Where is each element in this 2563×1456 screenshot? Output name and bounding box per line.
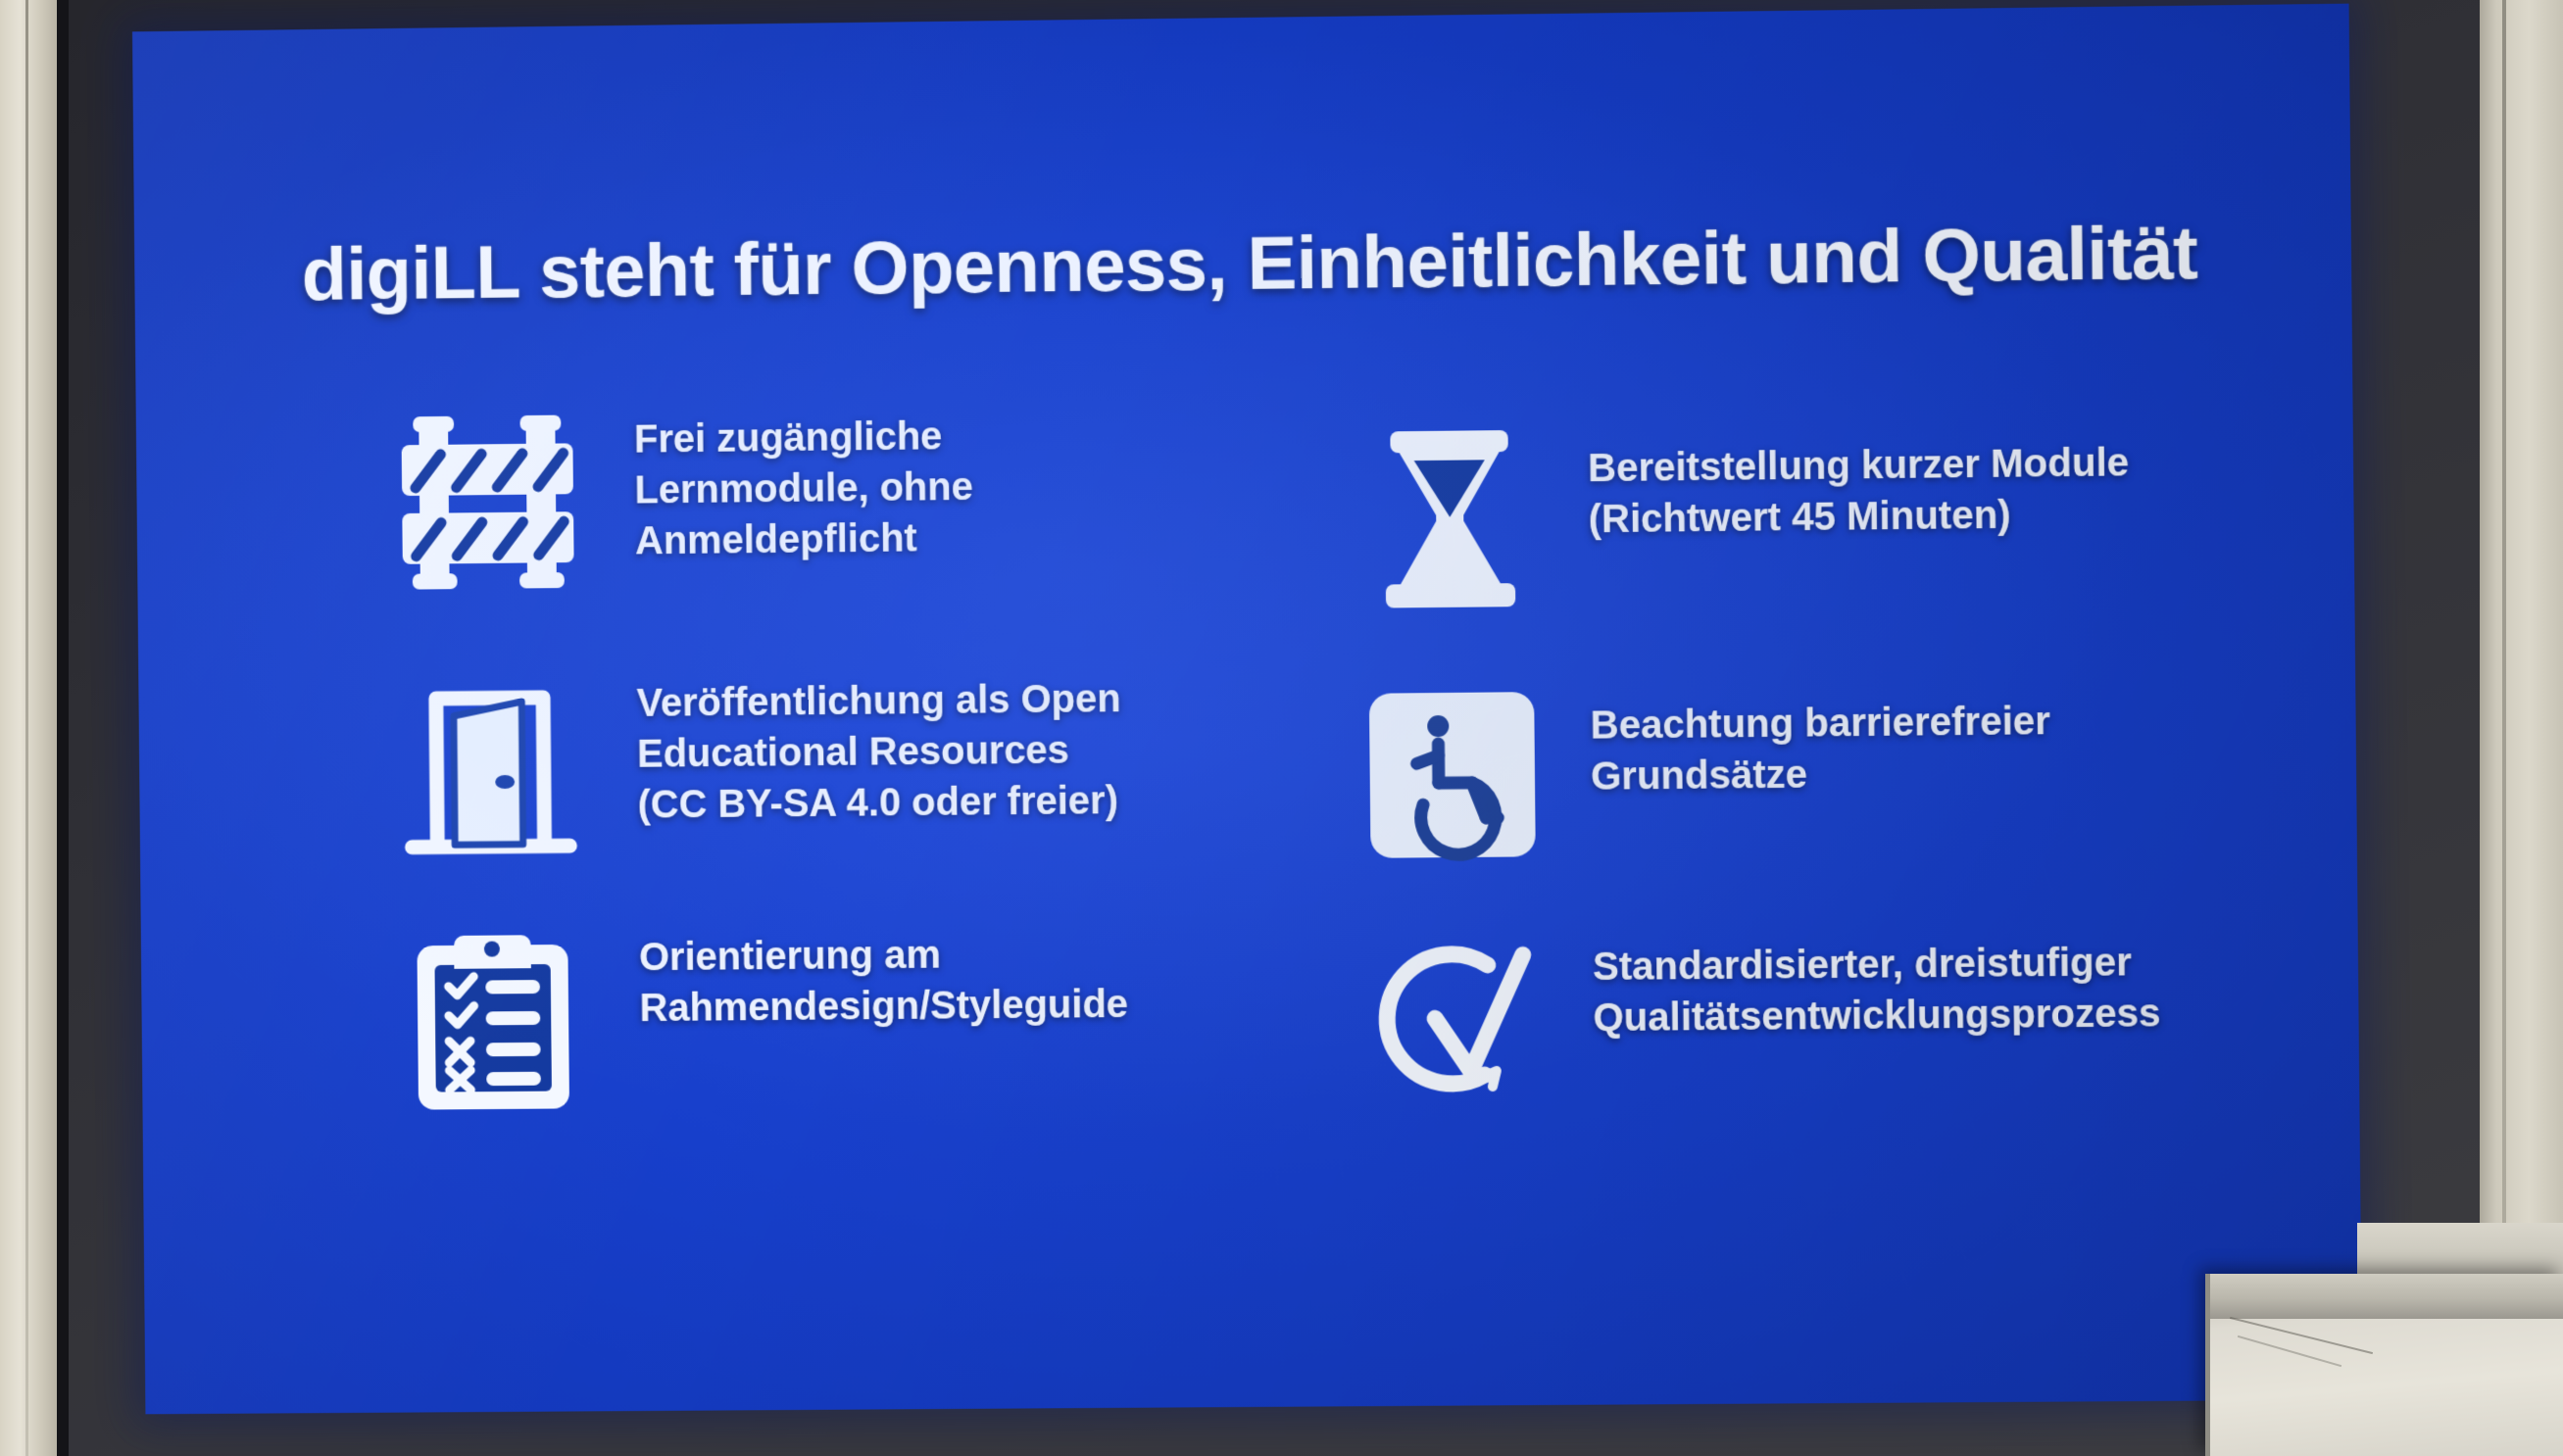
cycle-check-icon xyxy=(1341,922,1568,1110)
bezel-edge-left xyxy=(57,0,69,1456)
flipchart-rail xyxy=(2210,1274,2563,1319)
wheelchair-accessibility-icon xyxy=(1339,681,1566,869)
feature-text-line: Frei zugängliche xyxy=(634,411,973,465)
column-right: Bereitstellung kurzer Module (Richtwert … xyxy=(1267,391,2259,1166)
feature-text-line: (Richtwert 45 Minuten) xyxy=(1588,488,2129,545)
feature-item: Beachtung barrierefreier Grundsätze xyxy=(1270,676,2052,870)
clipboard-checklist-icon xyxy=(380,927,606,1114)
feature-text: Beachtung barrierefreier Grundsätze xyxy=(1590,676,2050,802)
feature-text: Orientierung am Rahmendesign/Styleguide xyxy=(639,922,1128,1034)
feature-text-line: Bereitstellung kurzer Module xyxy=(1588,437,2129,494)
flipchart-paper-fold xyxy=(2230,1317,2373,1354)
feature-text-line: Veröffentlichung als Open xyxy=(636,673,1120,729)
room-background: digiLL steht für Openness, Einheitlichke… xyxy=(0,0,2563,1456)
feature-text-line: Beachtung barrierefreier xyxy=(1590,696,2050,752)
feature-text-line: Qualitätsentwicklungsprozess xyxy=(1593,988,2160,1043)
feature-text-line: Orientierung am xyxy=(639,928,1128,983)
content-grid: Frei zugängliche Lernmodule, ohne Anmeld… xyxy=(281,391,2249,1174)
feature-text: Frei zugängliche Lernmodule, ohne Anmeld… xyxy=(634,405,974,566)
feature-text-line: Anmeldepflicht xyxy=(635,512,974,566)
feature-item: Frei zugängliche Lernmodule, ohne Anmeld… xyxy=(281,405,974,598)
feature-text: Veröffentlichung als Open Educational Re… xyxy=(636,667,1121,830)
presentation-slide: digiLL steht für Openness, Einheitlichke… xyxy=(132,4,2362,1415)
feature-text-line: Educational Resources xyxy=(637,724,1121,780)
hourglass-icon xyxy=(1336,423,1563,612)
feature-item: Orientierung am Rahmendesign/Styleguide xyxy=(286,922,1129,1115)
column-left: Frei zugängliche Lernmodule, ohne Anmeld… xyxy=(281,402,1264,1174)
wall-strip-left xyxy=(0,0,57,1456)
flipchart-board xyxy=(2205,1274,2563,1456)
wall-seam-left xyxy=(25,0,28,1456)
feature-text-line: (CC BY-SA 4.0 oder freier) xyxy=(637,775,1121,830)
feature-item: Bereitstellung kurzer Module (Richtwert … xyxy=(1267,417,2130,613)
feature-item: Veröffentlichung als Open Educational Re… xyxy=(284,667,1122,861)
feature-text-line: Grundsätze xyxy=(1591,747,2051,801)
feature-text-line: Standardisierter, dreistufiger xyxy=(1593,937,2160,993)
open-door-icon xyxy=(377,672,603,860)
page-title: digiLL steht für Openness, Einheitlichke… xyxy=(301,211,2193,317)
feature-text: Standardisierter, dreistufiger Qualitäts… xyxy=(1593,917,2161,1043)
feature-text-line: Lernmodule, ohne xyxy=(634,461,973,516)
road-barrier-icon xyxy=(375,409,601,597)
feature-text: Bereitstellung kurzer Module (Richtwert … xyxy=(1588,417,2130,545)
flipchart-upper-panel xyxy=(2357,1223,2563,1274)
feature-item: Standardisierter, dreistufiger Qualitäts… xyxy=(1272,917,2161,1111)
feature-text-line: Rahmendesign/Styleguide xyxy=(639,979,1128,1034)
